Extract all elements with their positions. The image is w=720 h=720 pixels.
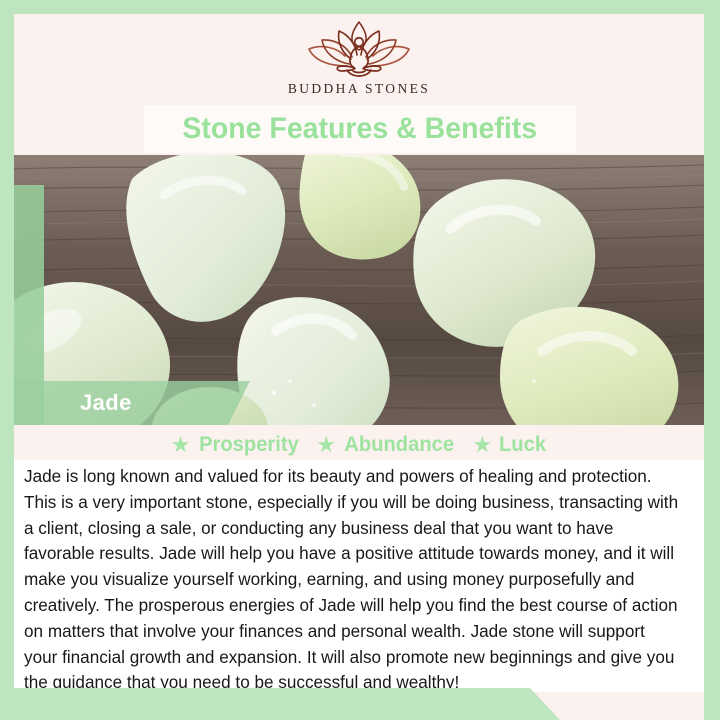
frame-left-border <box>0 0 14 720</box>
benefit-item: ★ Abundance <box>316 433 456 457</box>
star-icon: ★ <box>472 434 492 456</box>
description-text: Jade is long known and valued for its be… <box>24 464 682 696</box>
brand-name: BUDDHA STONES <box>288 81 430 97</box>
poster-root: BUDDHA STONES Stone Features & Benefits <box>0 0 720 720</box>
benefit-label: Prosperity <box>199 433 299 457</box>
star-icon: ★ <box>171 434 191 456</box>
brand-header: BUDDHA STONES <box>14 14 704 106</box>
star-icon: ★ <box>316 434 336 456</box>
stone-name: Jade <box>80 390 132 416</box>
benefits-row: ★ Prosperity ★ Abundance ★ Luck <box>14 430 704 460</box>
frame-top-border <box>0 0 720 14</box>
logo-lockup: BUDDHA STONES <box>14 14 704 97</box>
benefit-label: Luck <box>499 433 546 457</box>
description-block: Jade is long known and valued for its be… <box>14 460 704 692</box>
page-title: Stone Features & Benefits <box>183 112 538 146</box>
frame-bottom-accent <box>0 688 560 720</box>
benefit-label: Abundance <box>344 433 454 457</box>
frame-right-border <box>704 0 720 720</box>
title-band: Stone Features & Benefits <box>144 105 576 153</box>
benefit-item: ★ Luck <box>472 433 547 457</box>
lotus-meditation-icon <box>299 18 419 80</box>
benefit-item: ★ Prosperity <box>171 433 301 457</box>
stone-caption-band: Jade <box>14 381 250 425</box>
